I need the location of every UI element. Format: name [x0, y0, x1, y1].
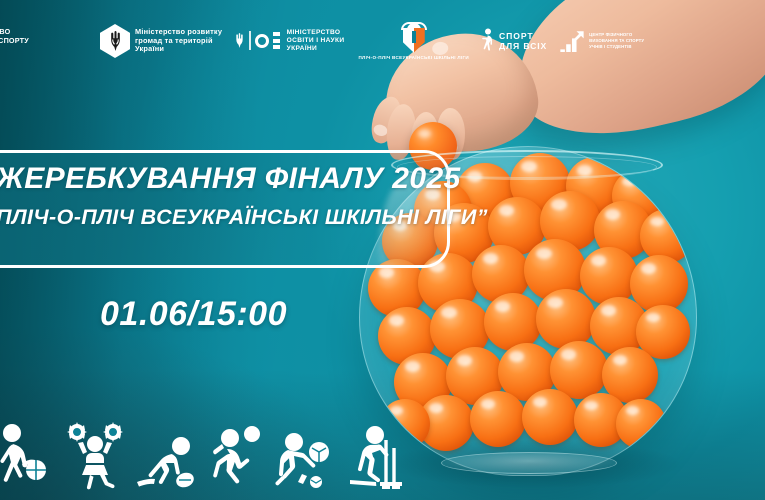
title-line-2: ПЛІЧ-О-ПЛІЧ ВСЕУКРАЇНСЬКІ ШКІЛЬНІ ЛІГИ”	[0, 205, 488, 230]
football-pictogram	[272, 422, 338, 496]
tryzub-icon	[108, 31, 123, 51]
logo-ministry-of-education: МІНІСТЕРСТВО ОСВІТИ І НАУКИ УКРАЇНИ	[234, 29, 344, 52]
tryzub-hex-icon	[100, 24, 130, 58]
logo-ministry-of-youth-and-sport-text: МІНІСТЕРСТВО МОЛОДІ ТА СПОРТУ УКРАЇНИ	[0, 28, 29, 53]
title-banner: ЖЕРЕБКУВАННЯ ФІНАЛУ 2025 ПЛІЧ-О-ПЛІЧ ВСЕ…	[0, 150, 450, 268]
rugby-pictogram	[132, 422, 198, 496]
ski-pictogram	[342, 422, 408, 496]
arrow-figure-icon	[559, 30, 585, 52]
running-figure-icon	[481, 28, 494, 54]
education-mark-icon	[234, 31, 280, 50]
cheerleading-pictogram	[62, 422, 128, 496]
logo-plich-o-plich-text: ПЛІЧ-О-ПЛІЧ ВСЕУКРАЇНСЬКІ ШКІЛЬНІ ЛІГИ	[358, 55, 469, 61]
logo-plich-o-plich: ПЛІЧ-О-ПЛІЧ ВСЕУКРАЇНСЬКІ ШКІЛЬНІ ЛІГИ	[358, 22, 469, 61]
logo-sport-for-all-text: СПОРТ ДЛЯ ВСІХ	[499, 31, 547, 51]
logo-centre-physical-education: ЦЕНТР ФІЗИЧНОГО ВИХОВАННЯ ТА СПОРТУ УЧНІ…	[559, 30, 644, 52]
logo-ministry-of-communities-development-text: Міністерство розвитку громад та територі…	[135, 28, 222, 54]
sport-pictogram-strip	[0, 422, 408, 496]
logo-centre-physical-education-text: ЦЕНТР ФІЗИЧНОГО ВИХОВАННЯ ТА СПОРТУ УЧНІ…	[589, 32, 644, 49]
volleyball-pictogram	[202, 422, 268, 496]
logo-ministry-of-youth-and-sport: МІНІСТЕРСТВО МОЛОДІ ТА СПОРТУ УКРАЇНИ	[0, 28, 90, 53]
basketball-pictogram	[0, 422, 58, 496]
logo-sport-for-all: СПОРТ ДЛЯ ВСІХ	[481, 28, 547, 54]
tryzub-small-icon	[234, 31, 245, 50]
event-datetime: 01.06/15:00	[100, 295, 287, 334]
logo-ministry-of-education-text: МІНІСТЕРСТВО ОСВІТИ І НАУКИ УКРАЇНИ	[287, 29, 345, 52]
bowl-base	[441, 452, 617, 474]
logo-ministry-of-communities-development: Міністерство розвитку громад та територі…	[100, 24, 222, 58]
poster-canvas: МІНІСТЕРСТВО МОЛОДІ ТА СПОРТУ УКРАЇНИ Мі…	[0, 0, 765, 500]
plich-o-plich-shield-icon	[401, 22, 427, 53]
partner-logo-bar: МІНІСТЕРСТВО МОЛОДІ ТА СПОРТУ УКРАЇНИ Мі…	[0, 0, 540, 82]
title-line-1: ЖЕРЕБКУВАННЯ ФІНАЛУ 2025	[0, 162, 461, 196]
